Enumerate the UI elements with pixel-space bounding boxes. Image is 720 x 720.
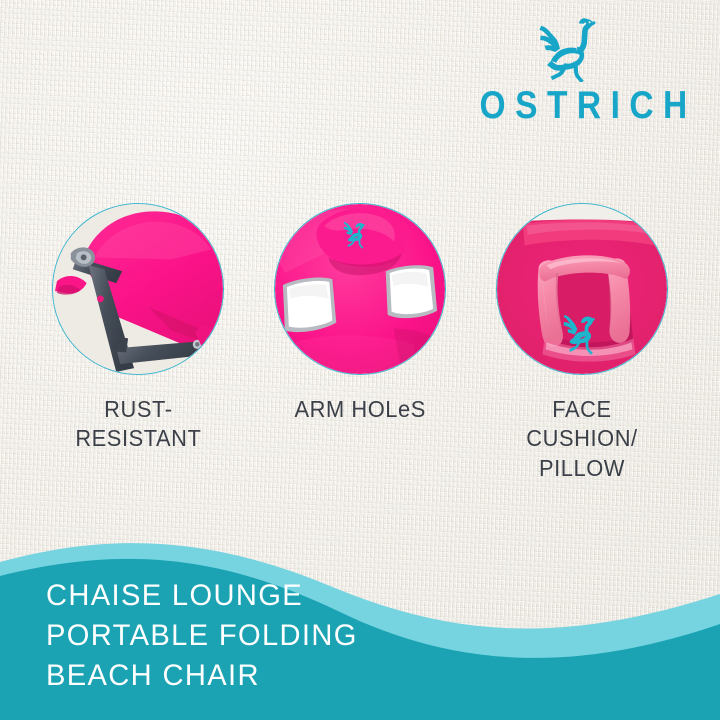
banner-line-1: CHAISE LOUNGE <box>46 576 358 616</box>
feature-image-circle <box>496 203 668 375</box>
feature-caption: RUST- RESISTANT <box>75 395 201 454</box>
feature-arm-holes: ARM HOLeS <box>267 203 453 483</box>
banner-title: CHAISE LOUNGE PORTABLE FOLDING BEACH CHA… <box>46 576 358 696</box>
chair-frame-photo <box>53 204 223 374</box>
feature-image-circle <box>52 203 224 375</box>
arm-holes-photo <box>275 204 445 374</box>
ostrich-bird-icon <box>533 16 605 82</box>
product-infographic: OSTRICH <box>0 0 720 720</box>
feature-image-circle <box>274 203 446 375</box>
brand-logo: OSTRICH <box>454 16 684 125</box>
feature-list: RUST- RESISTANT <box>0 203 720 483</box>
face-cushion-photo <box>497 204 667 374</box>
feature-rust-resistant: RUST- RESISTANT <box>45 203 231 483</box>
banner-line-2: PORTABLE FOLDING <box>46 616 358 656</box>
banner-line-3: BEACH CHAIR <box>46 656 358 696</box>
feature-face-cushion: FACE CUSHION/ PILLOW <box>489 203 675 483</box>
feature-caption: FACE CUSHION/ PILLOW <box>494 395 671 483</box>
wave-banner: CHAISE LOUNGE PORTABLE FOLDING BEACH CHA… <box>0 520 720 720</box>
brand-wordmark: OSTRICH <box>470 86 668 125</box>
feature-caption: ARM HOLeS <box>294 395 425 424</box>
